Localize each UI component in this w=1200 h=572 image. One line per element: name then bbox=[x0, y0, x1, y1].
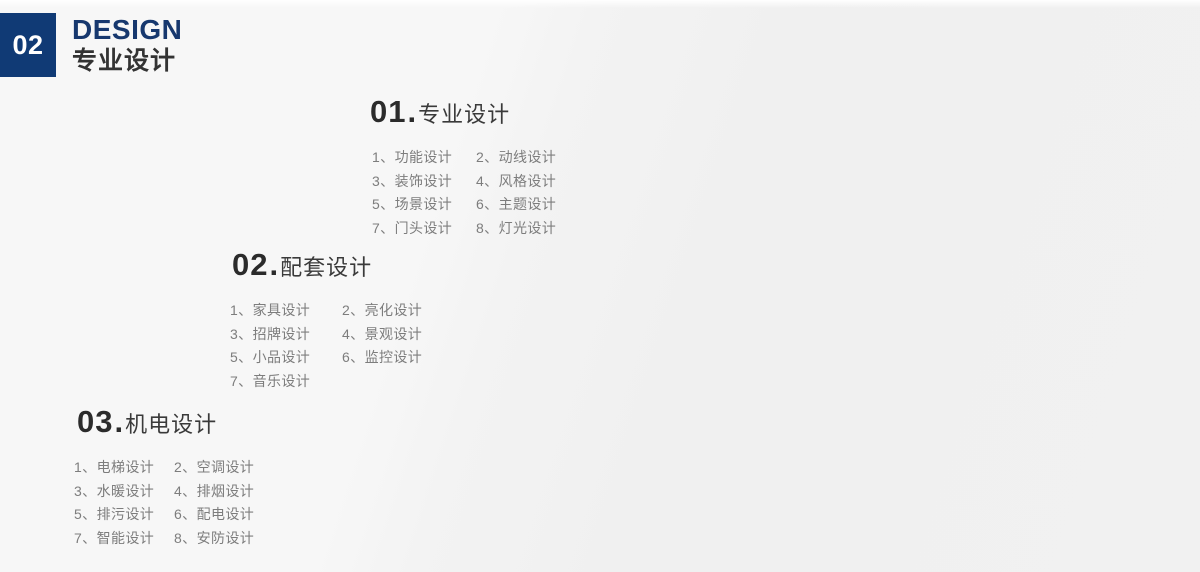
page-title-en: DESIGN bbox=[72, 16, 182, 44]
section-heading-01: 01 . 专业设计 bbox=[370, 94, 580, 130]
slide-header: 02 DESIGN 专业设计 bbox=[0, 13, 182, 77]
section-list-03: 1、电梯设计 2、空调设计 3、水暖设计 4、排烟设计 5、排污设计 6、配电设… bbox=[74, 456, 278, 550]
section-list-02: 1、家具设计 2、亮化设计 3、招牌设计 4、景观设计 5、小品设计 6、监控设… bbox=[230, 299, 446, 393]
section-dot-03: . bbox=[114, 404, 123, 440]
list-item-right: 6、配电设计 bbox=[174, 503, 278, 527]
section-number-03: 03 bbox=[77, 404, 113, 440]
list-item-right: 6、主题设计 bbox=[476, 193, 580, 217]
list-item: 5、排污设计 6、配电设计 bbox=[74, 503, 278, 527]
list-item: 1、功能设计 2、动线设计 bbox=[372, 146, 580, 170]
slide-canvas: 02 DESIGN 专业设计 01 . 专业设计 1、功能设计 2、动线设计 3… bbox=[0, 0, 1200, 572]
section-number-01: 01 bbox=[370, 94, 406, 130]
list-item-left: 1、家具设计 bbox=[230, 299, 342, 323]
list-item-left: 7、门头设计 bbox=[372, 217, 476, 241]
page-title-cn: 专业设计 bbox=[72, 49, 182, 74]
section-title-02: 配套设计 bbox=[280, 250, 372, 282]
section-dot-02: . bbox=[269, 247, 278, 283]
section-block-01: 01 . 专业设计 1、功能设计 2、动线设计 3、装饰设计 4、风格设计 5、… bbox=[370, 94, 580, 240]
list-item-right: 2、亮化设计 bbox=[342, 299, 446, 323]
list-item-right: 6、监控设计 bbox=[342, 346, 446, 370]
list-item-right: 8、灯光设计 bbox=[476, 217, 580, 241]
section-title-03: 机电设计 bbox=[125, 407, 217, 439]
list-item-right: 8、安防设计 bbox=[174, 527, 278, 551]
section-list-01: 1、功能设计 2、动线设计 3、装饰设计 4、风格设计 5、场景设计 6、主题设… bbox=[372, 146, 580, 240]
list-item: 7、音乐设计 bbox=[230, 370, 446, 394]
list-item-right bbox=[342, 370, 446, 394]
list-item: 3、装饰设计 4、风格设计 bbox=[372, 170, 580, 194]
list-item: 3、水暖设计 4、排烟设计 bbox=[74, 480, 278, 504]
list-item-right: 2、空调设计 bbox=[174, 456, 278, 480]
list-item-right: 2、动线设计 bbox=[476, 146, 580, 170]
list-item-right: 4、景观设计 bbox=[342, 323, 446, 347]
list-item: 7、智能设计 8、安防设计 bbox=[74, 527, 278, 551]
list-item-right: 4、风格设计 bbox=[476, 170, 580, 194]
list-item-left: 5、场景设计 bbox=[372, 193, 476, 217]
list-item: 1、家具设计 2、亮化设计 bbox=[230, 299, 446, 323]
section-number-badge-label: 02 bbox=[12, 30, 43, 61]
list-item-left: 7、音乐设计 bbox=[230, 370, 342, 394]
section-number-02: 02 bbox=[232, 247, 268, 283]
list-item-left: 3、招牌设计 bbox=[230, 323, 342, 347]
list-item: 7、门头设计 8、灯光设计 bbox=[372, 217, 580, 241]
section-number-badge: 02 bbox=[0, 13, 56, 77]
list-item: 5、场景设计 6、主题设计 bbox=[372, 193, 580, 217]
list-item-left: 5、排污设计 bbox=[74, 503, 174, 527]
list-item-left: 1、功能设计 bbox=[372, 146, 476, 170]
list-item: 3、招牌设计 4、景观设计 bbox=[230, 323, 446, 347]
list-item-left: 3、水暖设计 bbox=[74, 480, 174, 504]
list-item: 1、电梯设计 2、空调设计 bbox=[74, 456, 278, 480]
section-block-03: 03 . 机电设计 1、电梯设计 2、空调设计 3、水暖设计 4、排烟设计 5、… bbox=[77, 404, 278, 550]
list-item-right: 4、排烟设计 bbox=[174, 480, 278, 504]
header-title-group: DESIGN 专业设计 bbox=[72, 13, 182, 77]
section-dot-01: . bbox=[407, 94, 416, 130]
list-item-left: 1、电梯设计 bbox=[74, 456, 174, 480]
section-title-01: 专业设计 bbox=[418, 97, 510, 129]
section-heading-02: 02 . 配套设计 bbox=[232, 247, 446, 283]
section-heading-03: 03 . 机电设计 bbox=[77, 404, 278, 440]
list-item-left: 5、小品设计 bbox=[230, 346, 342, 370]
list-item: 5、小品设计 6、监控设计 bbox=[230, 346, 446, 370]
top-edge-highlight bbox=[0, 0, 1200, 8]
section-block-02: 02 . 配套设计 1、家具设计 2、亮化设计 3、招牌设计 4、景观设计 5、… bbox=[232, 247, 446, 393]
list-item-left: 7、智能设计 bbox=[74, 527, 174, 551]
list-item-left: 3、装饰设计 bbox=[372, 170, 476, 194]
